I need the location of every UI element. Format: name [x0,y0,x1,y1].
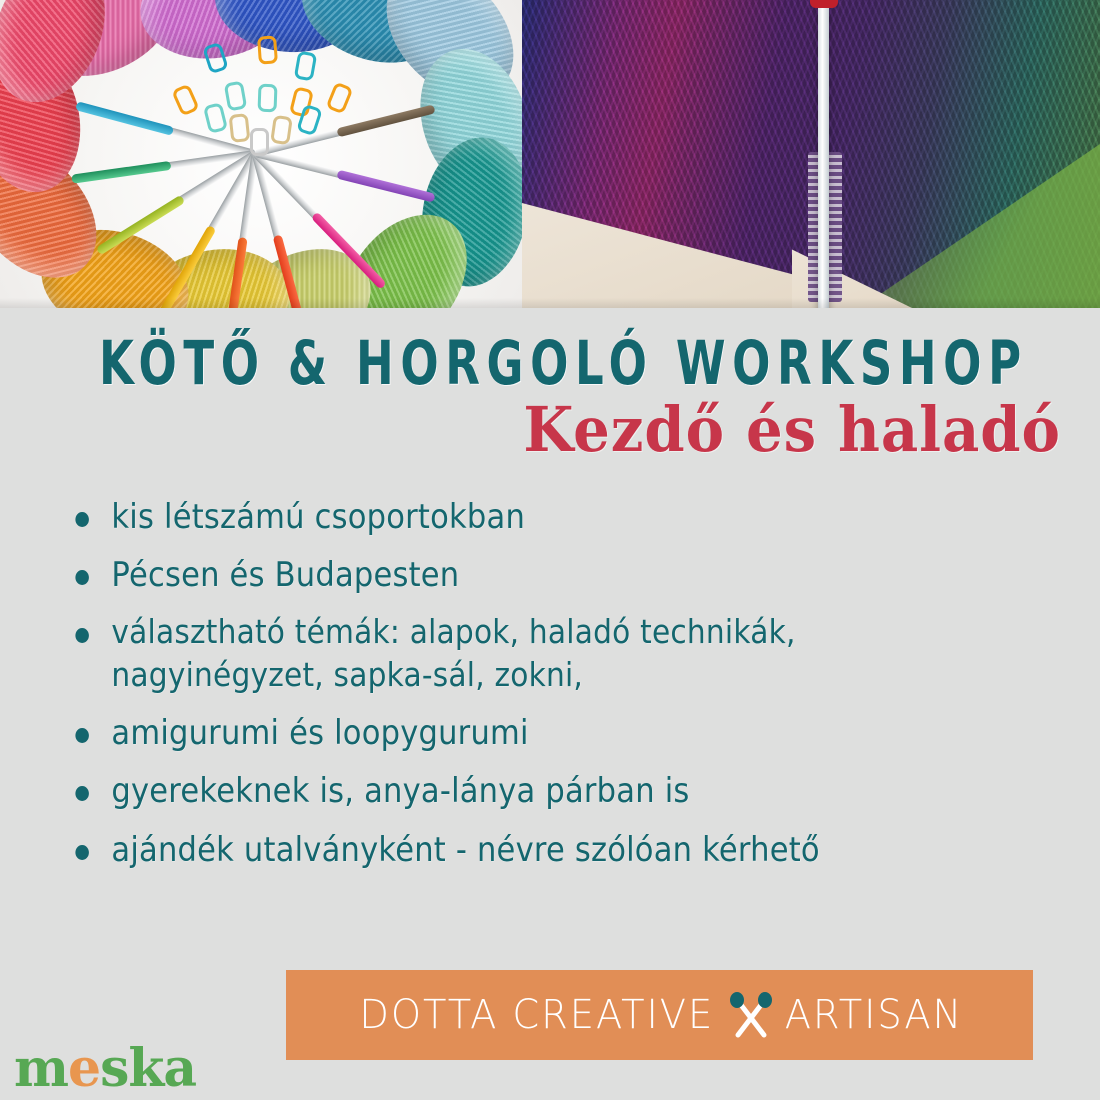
stitch-marker [203,102,228,134]
list-item: választható témák: alapok, haladó techni… [70,611,979,697]
meska-logo-prefix: m [14,1038,68,1099]
stitch-marker [258,84,278,113]
meska-logo-suffix: ska [100,1038,196,1099]
needle-tip [810,0,838,8]
page-subtitle: Kezdő és haladó [77,399,1100,461]
list-item: amigurumi és loopygurumi [70,711,979,755]
stitch-marker [229,113,251,143]
photo-strip [0,0,1100,308]
stitch-marker [325,81,353,114]
knitting-photo [522,0,1100,308]
list-item: gyerekeknek is, anya-lánya párban is [70,769,979,813]
poster-canvas: KÖTŐ & HORGOLÓ WORKSHOP Kezdő és haladó … [0,0,1100,1100]
page-title: KÖTŐ & HORGOLÓ WORKSHOP [99,333,1001,394]
stitch-marker [171,83,200,116]
stitch-marker [257,35,278,64]
knitting-photo-scene [522,0,1100,308]
stitch-marker [224,81,248,112]
stitch-marker [294,51,318,82]
stitch-marker [250,128,269,156]
list-item: kis létszámú csoportokban [70,495,979,539]
list-item: ajándék utalványként - névre szólóan kér… [70,828,979,872]
photo-bottom-shadow [522,298,1100,308]
brand-banner[interactable]: DOTTA CREATIVE ARTISAN [286,970,1033,1060]
list-item: Pécsen és Budapesten [70,553,979,597]
meska-logo[interactable]: meska [14,1043,196,1095]
knitting-needle-icon [818,0,829,308]
yarn-photo [0,0,522,308]
brand-name-right: ARTISAN [785,992,963,1038]
crochet-hook [75,101,256,158]
feature-list: kis létszámú csoportokban Pécsen és Buda… [70,495,1080,886]
brand-name-left: DOTTA CREATIVE [359,992,714,1038]
crossed-knitting-needles-icon [725,989,777,1041]
headline-block: KÖTŐ & HORGOLÓ WORKSHOP Kezdő és haladó [0,336,1100,461]
yarn-photo-scene [0,0,522,308]
photo-bottom-shadow [0,298,522,308]
meska-logo-accent-letter: e [68,1038,100,1099]
